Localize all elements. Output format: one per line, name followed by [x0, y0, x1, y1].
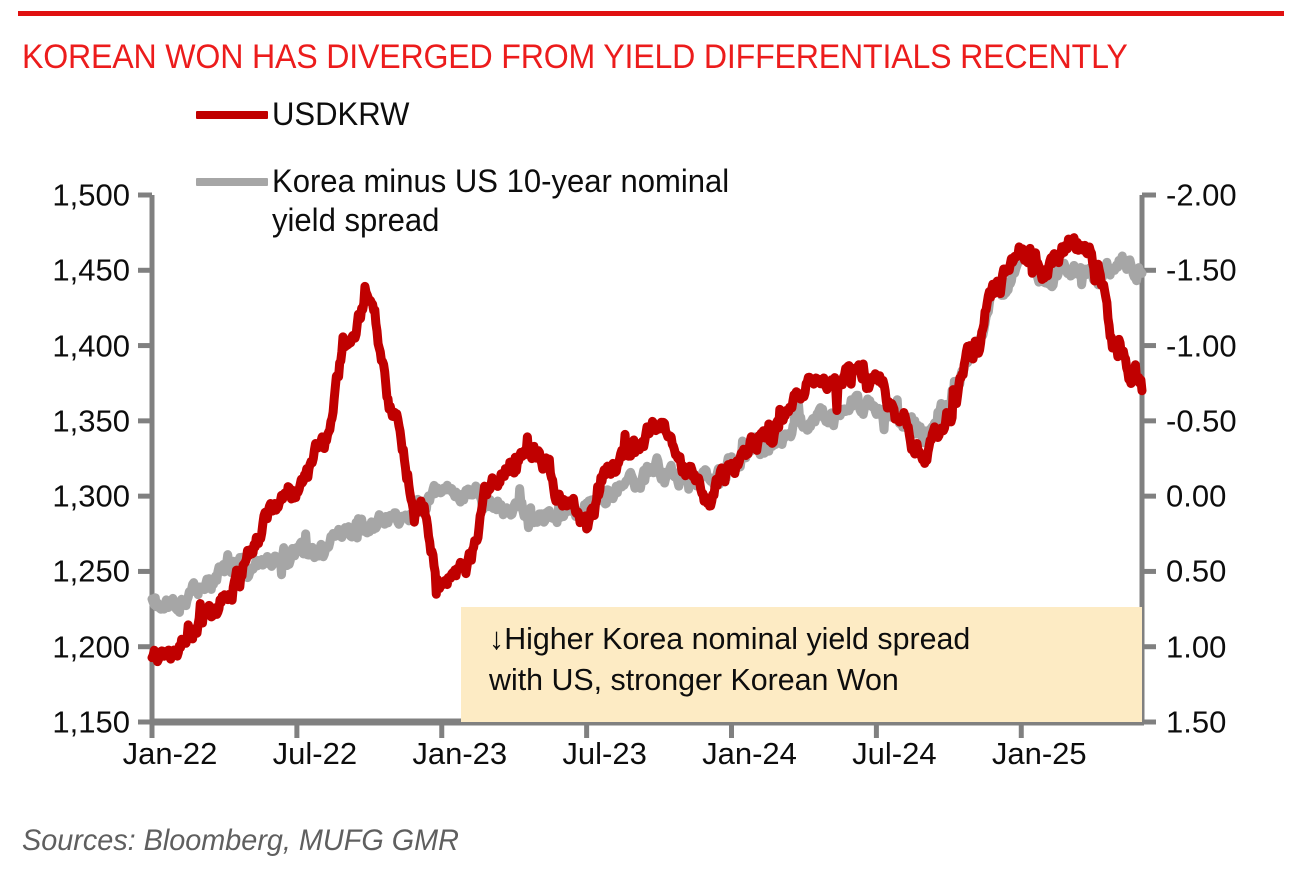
y-axis-right-tick-label: 0.00: [1166, 481, 1226, 512]
x-axis-tick-label: Jul-24: [852, 738, 936, 769]
y-axis-right-tick-label: -0.50: [1166, 405, 1237, 436]
x-axis-tick-label: Jan-24: [702, 738, 797, 769]
x-axis-tick-label: Jul-23: [562, 738, 646, 769]
y-axis-left-tick-label: 1,400: [0, 330, 130, 361]
y-axis-left-tick-label: 1,300: [0, 481, 130, 512]
y-axis-right-tick-label: -1.00: [1166, 330, 1237, 361]
x-axis-tick-label: Jan-25: [992, 738, 1087, 769]
y-axis-right-tick-label: 1.50: [1166, 707, 1226, 738]
x-axis-tick-label: Jan-23: [412, 738, 507, 769]
y-axis-right-tick-label: 0.50: [1166, 556, 1226, 587]
y-axis-left-tick-label: 1,200: [0, 631, 130, 662]
y-axis-left-tick-label: 1,500: [0, 180, 130, 211]
y-axis-right-tick-label: 1.00: [1166, 631, 1226, 662]
y-axis-right-tick-label: -2.00: [1166, 180, 1237, 211]
y-axis-left-tick-label: 1,450: [0, 255, 130, 286]
x-axis-tick-label: Jan-22: [123, 738, 218, 769]
sources-note: Sources: Bloomberg, MUFG GMR: [22, 824, 459, 858]
y-axis-left-tick-label: 1,250: [0, 556, 130, 587]
x-axis-tick-label: Jul-22: [273, 738, 357, 769]
y-axis-left-tick-label: 1,150: [0, 707, 130, 738]
y-axis-left-tick-label: 1,350: [0, 405, 130, 436]
chart-page: KOREAN WON HAS DIVERGED FROM YIELD DIFFE…: [0, 0, 1299, 877]
annotation-text: ↓Higher Korea nominal yield spread with …: [489, 618, 1116, 700]
y-axis-right-tick-label: -1.50: [1166, 255, 1237, 286]
